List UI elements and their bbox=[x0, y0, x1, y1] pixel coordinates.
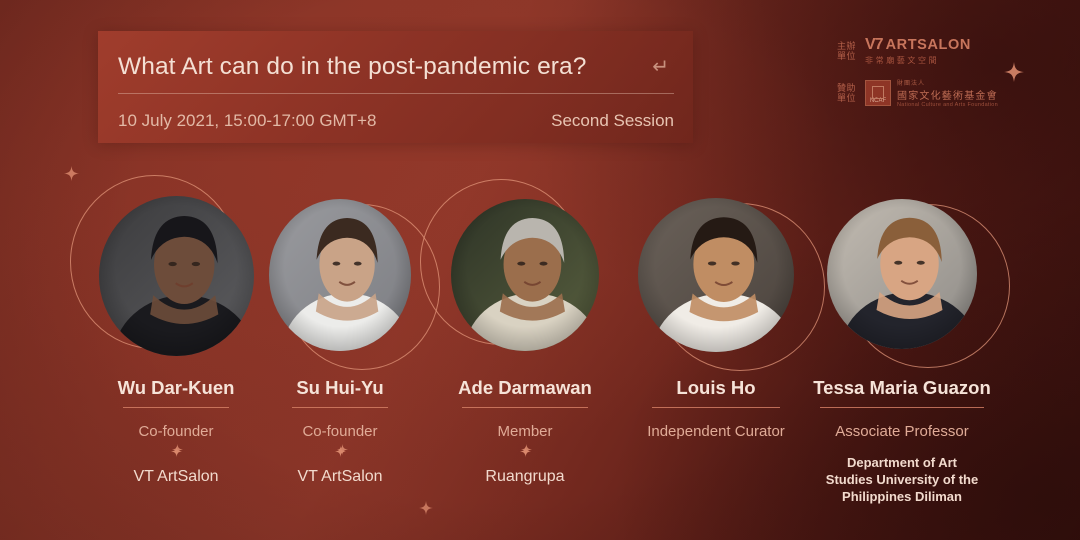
organizer-label-line1: 主辦 bbox=[837, 41, 856, 51]
session-label: Second Session bbox=[551, 111, 674, 131]
speaker-name: Tessa Maria Guazon bbox=[782, 377, 1022, 399]
speaker-name-underline bbox=[123, 407, 229, 408]
portrait-wu-dar-kuen bbox=[99, 196, 254, 356]
portrait-tessa-maria-guazon bbox=[827, 199, 977, 349]
header-title-row: What Art can do in the post-pandemic era… bbox=[118, 43, 675, 90]
organizer-label-line2: 單位 bbox=[837, 51, 856, 61]
header-divider bbox=[118, 93, 674, 94]
vt-logo-row: V7 ARTSALON bbox=[865, 36, 971, 54]
speaker-name-underline bbox=[652, 407, 780, 408]
vt-mark-icon: V7 bbox=[865, 36, 883, 54]
ncaf-name-cn-small: 財團法人 bbox=[897, 78, 998, 87]
speaker-role: Associate Professor bbox=[782, 423, 1022, 440]
portrait-louis-ho bbox=[638, 198, 794, 352]
speaker-name-underline bbox=[820, 407, 984, 408]
organizer-logo-row: 主辦 單位 V7 ARTSALON 非常廟藝文空間 bbox=[837, 36, 998, 66]
sponsor-logo-row: 贊助 單位 NCAF 財團法人 國家文化藝術基金會 National Cultu… bbox=[837, 78, 998, 108]
event-poster: What Art can do in the post-pandemic era… bbox=[0, 0, 1080, 540]
portrait-tessa-maria-guazon bbox=[827, 199, 977, 349]
speaker-name-underline bbox=[462, 407, 588, 408]
return-arrow-icon[interactable]: ↵ bbox=[652, 57, 669, 77]
ncaf-mark-label: NCAF bbox=[870, 97, 886, 105]
portrait-louis-ho bbox=[638, 198, 794, 352]
organizer-label: 主辦 單位 bbox=[837, 41, 856, 61]
header-meta-row: 10 July 2021, 15:00-17:00 GMT+8 Second S… bbox=[118, 103, 674, 139]
portrait-su-hui-yu bbox=[269, 199, 411, 351]
ncaf-name-cn: 國家文化藝術基金會 bbox=[897, 87, 998, 102]
logo-block: 主辦 單位 V7 ARTSALON 非常廟藝文空間 贊助 單位 NCAF bbox=[837, 36, 998, 108]
ncaf-logo: NCAF 財團法人 國家文化藝術基金會 National Culture and… bbox=[865, 78, 998, 108]
ncaf-text: 財團法人 國家文化藝術基金會 National Culture and Arts… bbox=[897, 78, 998, 108]
portrait-wu-dar-kuen bbox=[99, 196, 254, 356]
session-datetime: 10 July 2021, 15:00-17:00 GMT+8 bbox=[118, 111, 376, 131]
speaker-organization: Department of Art Studies University of … bbox=[782, 454, 1022, 505]
session-header-card: What Art can do in the post-pandemic era… bbox=[98, 31, 693, 143]
page-title: What Art can do in the post-pandemic era… bbox=[118, 53, 587, 81]
artsalon-wordmark: ARTSALON bbox=[886, 37, 971, 53]
portrait-ade-darmawan bbox=[451, 199, 599, 351]
artsalon-chinese-name: 非常廟藝文空間 bbox=[865, 55, 939, 66]
portrait-su-hui-yu bbox=[269, 199, 411, 351]
ncaf-mark-icon: NCAF bbox=[865, 80, 891, 106]
sponsor-label-line1: 贊助 bbox=[837, 83, 856, 93]
sponsor-label-line2: 單位 bbox=[837, 93, 856, 103]
ncaf-name-en: National Culture and Arts Foundation bbox=[897, 102, 998, 108]
vt-artsalon-logo: V7 ARTSALON 非常廟藝文空間 bbox=[865, 36, 971, 66]
sponsor-label: 贊助 單位 bbox=[837, 83, 856, 103]
portrait-ade-darmawan bbox=[451, 199, 599, 351]
speaker-name-underline bbox=[292, 407, 388, 408]
